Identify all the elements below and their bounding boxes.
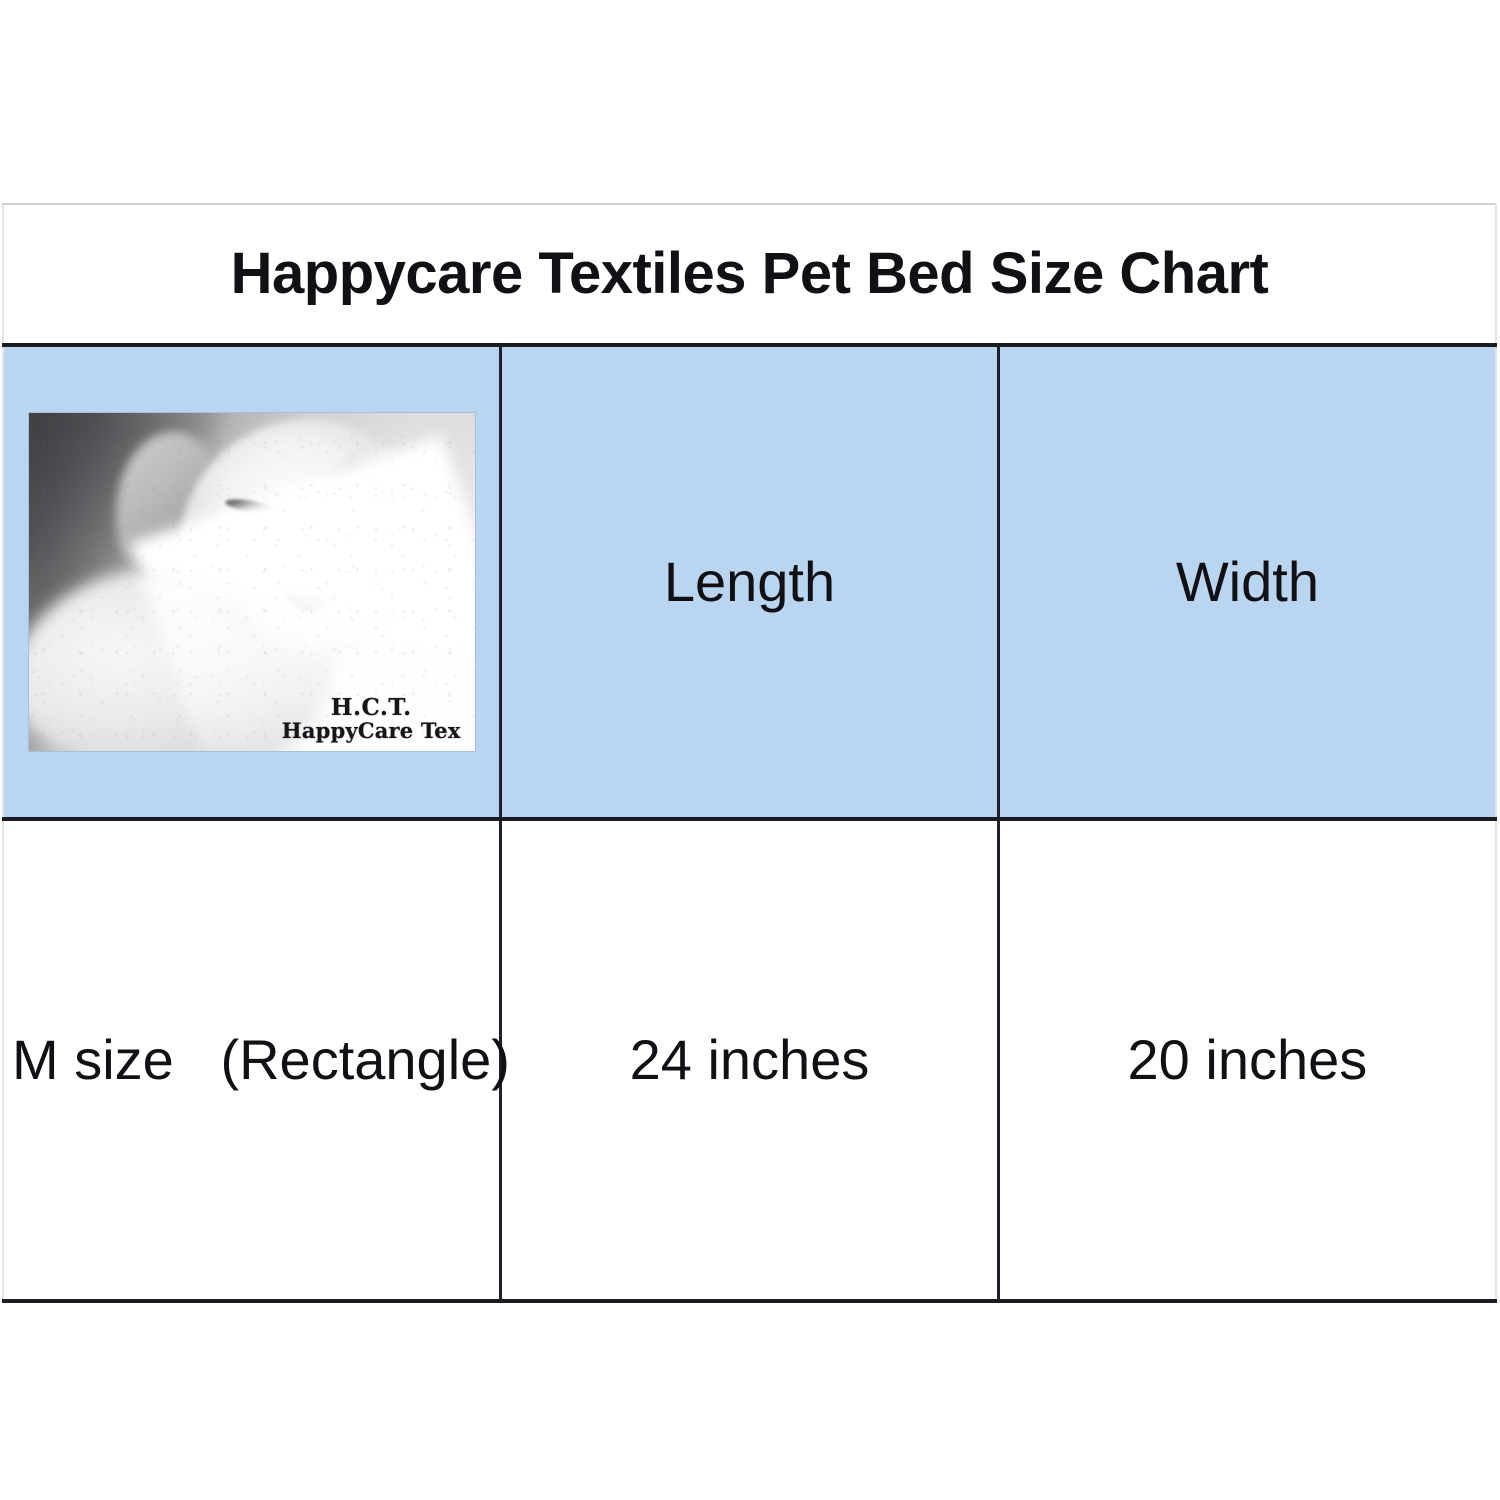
column-header-length: Length xyxy=(501,345,999,819)
row-width-value: 20 inches xyxy=(1000,1032,1495,1088)
puppy-photo-image: H.C.T. HappyCare Tex xyxy=(29,413,475,751)
column-header-length-label: Length xyxy=(502,554,997,610)
row-width-cell: 20 inches xyxy=(998,819,1496,1301)
chart-title-row: Happycare Textiles Pet Bed Size Chart xyxy=(3,204,1496,345)
row-size-label-cell: M size (Rectangle) xyxy=(3,819,501,1301)
row-length-cell: 24 inches xyxy=(501,819,999,1301)
table-header-row: H.C.T. HappyCare Tex Length Width xyxy=(3,345,1496,819)
size-chart-table: Happycare Textiles Pet Bed Size Chart xyxy=(2,203,1497,1303)
chart-title-cell: Happycare Textiles Pet Bed Size Chart xyxy=(3,204,1496,345)
brand-watermark: H.C.T. HappyCare Tex xyxy=(282,696,461,744)
table-row: M size (Rectangle) 24 inches 20 inches xyxy=(3,819,1496,1301)
page-title: Happycare Textiles Pet Bed Size Chart xyxy=(4,242,1495,306)
watermark-initials: H.C.T. xyxy=(282,696,461,721)
page-canvas: Happycare Textiles Pet Bed Size Chart xyxy=(0,0,1500,1500)
watermark-brand-name: HappyCare Tex xyxy=(282,720,461,743)
row-length-value: 24 inches xyxy=(502,1032,997,1088)
column-header-width-label: Width xyxy=(1000,554,1495,610)
brand-photo: H.C.T. HappyCare Tex xyxy=(29,413,475,751)
brand-photo-cell: H.C.T. HappyCare Tex xyxy=(3,345,501,819)
row-size-label: M size (Rectangle) xyxy=(4,1032,499,1088)
column-header-width: Width xyxy=(998,345,1496,819)
